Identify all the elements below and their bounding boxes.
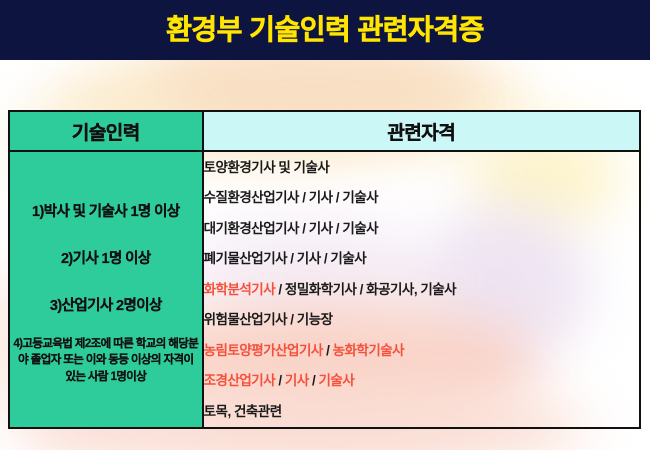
certification-segment-4: / xyxy=(309,373,319,388)
certification-segment-1: 토양환경기사 및 기술사 xyxy=(204,160,330,175)
requirement-item-4: 4)고등교육법 제2조에 따른 학교의 해당분야 졸업자 또는 이와 동등 이상… xyxy=(10,336,202,386)
certification-segment-2: / xyxy=(275,373,285,388)
column-header-technical-personnel-label: 기술인력 xyxy=(72,123,140,144)
certification-segment-1: 농림토양평가산업기사 xyxy=(204,343,323,358)
certification-segment-2: / 정밀화학기사 / 화공기사, 기술사 xyxy=(275,282,456,297)
column-header-related-certifications: 관련자격 xyxy=(203,111,640,151)
requirement-list: 1)박사 및 기술사 1명 이상2)기사 1명 이상3)산업기사 2명이상4)고… xyxy=(10,187,202,392)
certification-table: 기술인력 관련자격 1)박사 및 기술사 1명 이상2)기사 1명 이상3)산업… xyxy=(8,110,641,429)
certification-row-6: 위험물산업기사 / 기능장 xyxy=(204,305,639,336)
table-row: 1)박사 및 기술사 1명 이상2)기사 1명 이상3)산업기사 2명이상4)고… xyxy=(9,151,640,428)
requirement-item-2: 2)기사 1명 이상 xyxy=(61,247,151,268)
title-banner: 환경부 기술인력 관련자격증 xyxy=(0,0,650,60)
column-header-related-certifications-label: 관련자격 xyxy=(387,123,455,144)
certification-row-2: 수질환경산업기사 / 기사 / 기술사 xyxy=(204,183,639,214)
certification-segment-1: 토목, 건축관련 xyxy=(204,404,282,419)
certification-segment-1: 위험물산업기사 / 기능장 xyxy=(204,312,333,327)
certification-row-7: 농림토양평가산업기사 / 농화학기술사 xyxy=(204,335,639,366)
table-header-row: 기술인력 관련자격 xyxy=(9,111,640,151)
certification-row-1: 토양환경기사 및 기술사 xyxy=(204,152,639,183)
certification-list: 토양환경기사 및 기술사수질환경산업기사 / 기사 / 기술사대기환경산업기사 … xyxy=(204,152,639,427)
column-header-technical-personnel: 기술인력 xyxy=(9,111,203,151)
requirement-item-3: 3)산업기사 2명이상 xyxy=(50,294,162,315)
page-title: 환경부 기술인력 관련자격증 xyxy=(166,16,484,44)
requirement-item-1: 1)박사 및 기술사 1명 이상 xyxy=(32,200,180,221)
certification-segment-1: 폐기물산업기사 / 기사 / 기술사 xyxy=(204,251,367,266)
certification-segment-1: 조경산업기사 xyxy=(204,373,276,388)
certification-row-9: 토목, 건축관련 xyxy=(204,396,639,427)
certification-segment-3: 농화학기술사 xyxy=(333,343,405,358)
certification-segment-1: 수질환경산업기사 / 기사 / 기술사 xyxy=(204,190,378,205)
cell-technical-personnel-requirements: 1)박사 및 기술사 1명 이상2)기사 1명 이상3)산업기사 2명이상4)고… xyxy=(9,151,203,428)
certification-segment-3: 기사 xyxy=(285,373,309,388)
certification-row-4: 폐기물산업기사 / 기사 / 기술사 xyxy=(204,244,639,275)
certification-segment-1: 대기환경산업기사 / 기사 / 기술사 xyxy=(204,221,378,236)
certification-segment-5: 기술사 xyxy=(319,373,355,388)
certification-row-3: 대기환경산업기사 / 기사 / 기술사 xyxy=(204,213,639,244)
certification-segment-1: 화학분석기사 xyxy=(204,282,276,297)
cell-related-certifications: 토양환경기사 및 기술사수질환경산업기사 / 기사 / 기술사대기환경산업기사 … xyxy=(203,151,640,428)
certification-segment-2: / xyxy=(323,343,333,358)
certification-row-5: 화학분석기사 / 정밀화학기사 / 화공기사, 기술사 xyxy=(204,274,639,305)
certification-row-8: 조경산업기사 / 기사 / 기술사 xyxy=(204,366,639,397)
